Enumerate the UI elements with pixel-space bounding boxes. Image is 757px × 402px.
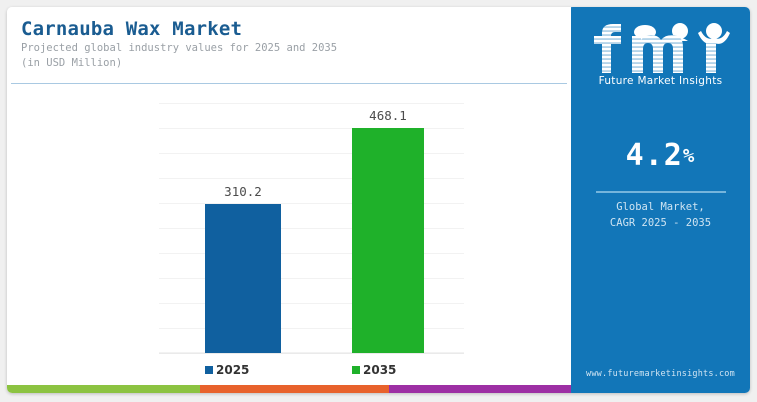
cagr-divider: [596, 191, 726, 193]
infographic-root: Carnauba Wax Market Projected global ind…: [0, 0, 757, 402]
bar-value-2035: 468.1: [352, 108, 424, 123]
fmi-logo-mark: [588, 21, 734, 73]
axis-baseline: [159, 353, 464, 354]
fmi-logo-icon: [588, 21, 734, 73]
fmi-logo-tagline: Future Market Insights: [571, 75, 750, 87]
fmi-logo: Future Market Insights: [571, 21, 750, 87]
cagr-caption-line-1: Global Market,: [571, 199, 750, 215]
footer-strip-green: [7, 385, 200, 393]
footer-strip-orange: [200, 385, 389, 393]
page-title: Carnauba Wax Market: [21, 18, 551, 40]
cagr-caption-line-2: CAGR 2025 - 2035: [571, 215, 750, 231]
page-subtitle-line-1: Projected global industry values for 202…: [21, 41, 551, 55]
legend-swatch-icon: [205, 366, 213, 374]
cagr-caption: Global Market, CAGR 2025 - 2035: [571, 199, 750, 231]
bar-value-2025: 310.2: [205, 184, 281, 199]
legend-item-2035[interactable]: 2035: [352, 364, 396, 376]
infographic-card: Carnauba Wax Market Projected global ind…: [7, 7, 750, 393]
legend-swatch-icon: [352, 366, 360, 374]
cagr-number: 4.2: [626, 138, 683, 173]
bar-2035[interactable]: [352, 128, 424, 353]
website-url[interactable]: www.futuremarketinsights.com: [571, 369, 750, 379]
bar-chart-plot: 310.2 468.1: [159, 103, 464, 353]
footer-strip-purple: [389, 385, 571, 393]
legend-item-2025[interactable]: 2025: [205, 364, 249, 376]
gridline: [159, 103, 464, 104]
page-subtitle-line-2: (in USD Million): [21, 56, 551, 70]
legend-label-2025: 2025: [216, 364, 249, 376]
bar-2025[interactable]: [205, 204, 281, 353]
chart-panel: Carnauba Wax Market Projected global ind…: [7, 7, 571, 393]
cagr-value: 4.2%: [571, 138, 750, 173]
title-block: Carnauba Wax Market Projected global ind…: [21, 18, 551, 70]
cagr-percent-symbol: %: [683, 145, 695, 167]
brand-panel: Future Market Insights 4.2% Global Marke…: [571, 7, 750, 393]
chart-legend: 2025 2035: [159, 364, 464, 382]
legend-label-2035: 2035: [363, 364, 396, 376]
title-divider: [11, 83, 567, 84]
